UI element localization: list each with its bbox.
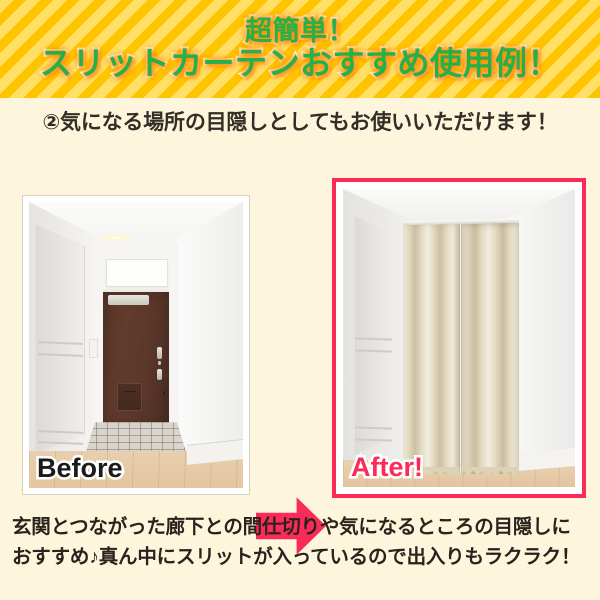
door-handle-lower	[157, 369, 162, 380]
section-subtitle: ②気になる場所の目隠しとしてもお使いいただけます！	[0, 106, 600, 136]
door-knob	[163, 391, 166, 395]
closet-door-panel	[35, 225, 84, 454]
transom-window	[106, 259, 168, 287]
light-switch	[89, 339, 98, 358]
hallway-scene-after	[343, 189, 575, 487]
banner-headline-secondary: スリットカーテンおすすめ使用例！	[40, 47, 560, 80]
after-label: After!	[351, 452, 423, 483]
hallway-scene-before	[29, 202, 243, 488]
promo-page: 超簡単！ スリットカーテンおすすめ使用例！ ②気になる場所の目隠しとしてもお使い…	[0, 0, 600, 600]
slit-curtain-right-panel	[461, 223, 519, 473]
after-photo: After!	[343, 189, 575, 487]
bottom-caption: 玄関とつながった廊下との間仕切りや気になるところの目隠しにおすすめ♪真ん中にスリ…	[12, 512, 590, 572]
header-banner: 超簡単！ スリットカーテンおすすめ使用例！	[0, 0, 600, 98]
curtain-center-slit	[459, 223, 462, 473]
before-label: Before	[37, 453, 123, 484]
mail-slot	[117, 383, 142, 411]
banner-headline-primary: 超簡単！	[245, 17, 355, 45]
before-photo: Before	[29, 202, 243, 488]
before-photo-frame: Before	[22, 195, 250, 495]
before-after-comparison: Before	[0, 178, 600, 500]
slit-curtain-left-panel	[403, 223, 460, 473]
header-banner-text-group: 超簡単！ スリットカーテンおすすめ使用例！	[0, 0, 600, 98]
door-closer-arm	[108, 295, 149, 305]
brown-entrance-door	[103, 289, 169, 429]
after-photo-frame: After!	[332, 178, 586, 498]
door-handle-upper	[157, 347, 162, 359]
closet-door-panel	[355, 216, 394, 454]
door-lock	[158, 361, 161, 365]
